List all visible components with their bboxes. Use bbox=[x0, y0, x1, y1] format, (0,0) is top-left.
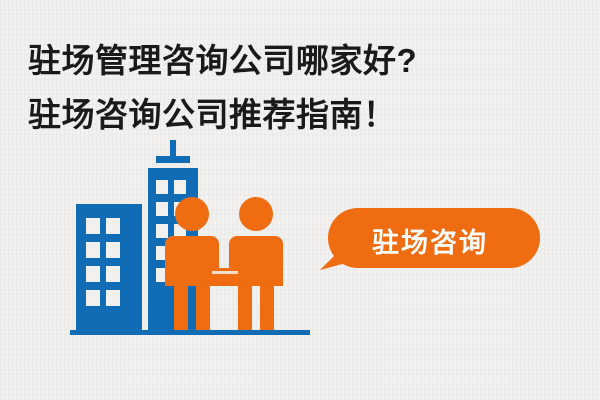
buildings-and-handshake-illustration bbox=[60, 140, 320, 350]
person-right bbox=[229, 197, 283, 330]
status-badge-label: 驻场咨询 bbox=[320, 208, 540, 274]
ground-line bbox=[70, 330, 310, 335]
page-title-line-2: 驻场咨询公司推荐指南！ bbox=[28, 88, 397, 136]
status-badge: 驻场咨询 bbox=[320, 208, 540, 274]
page-title-line-1: 驻场管理咨询公司哪家好? bbox=[28, 34, 417, 82]
office-tower-right-antenna bbox=[156, 140, 190, 163]
poster-canvas: 驻场管理咨询公司哪家好? 驻场咨询公司推荐指南！ bbox=[0, 0, 600, 400]
office-tower-left bbox=[76, 204, 142, 330]
handshake-icon bbox=[210, 268, 240, 286]
